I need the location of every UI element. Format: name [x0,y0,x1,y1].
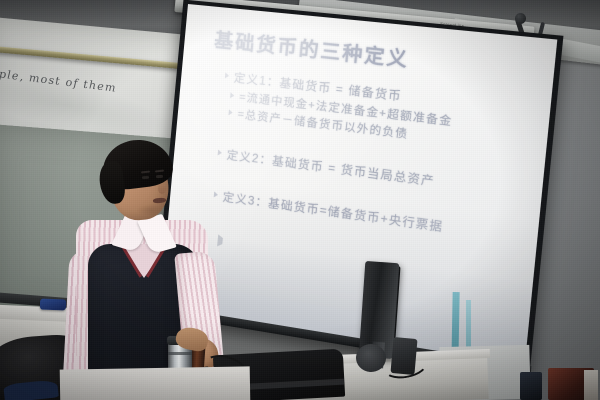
small-device-screen [520,372,542,400]
screen-mount-knob [515,13,526,24]
bullet-text: 定义2：基础货币 = 货币当局总资产 [226,147,436,193]
white-book [584,370,598,400]
thermos-band [168,352,192,355]
front-desk-surface [60,366,251,400]
slide-bullet-list: 定义1：基础货币 = 储备货币 =流通中现金+法定准备金+超额准备金 =总资产－… [213,68,544,252]
lecture-photo-scene: -ple, most of them ScreenLine 基础货币的三种定义 … [0,0,600,400]
presenter-nose [158,184,166,194]
presenter-chin-shadow [136,204,166,216]
presenter-eye [142,176,149,180]
slide-title: 基础货币的三种定义 [213,25,410,73]
speaker-box [390,337,417,375]
arrow-bullet-icon [228,110,233,116]
arrow-bullet-icon [225,72,230,78]
presenter-eye [156,175,163,179]
bullet-group-definition-1: 定义1：基础货币 = 储备货币 =流通中现金+法定准备金+超额准备金 =总资产－… [221,68,544,161]
bullet-text: 定义3：基础货币=储备货币+央行票据 [222,188,444,237]
arrow-bullet-icon [230,92,235,98]
